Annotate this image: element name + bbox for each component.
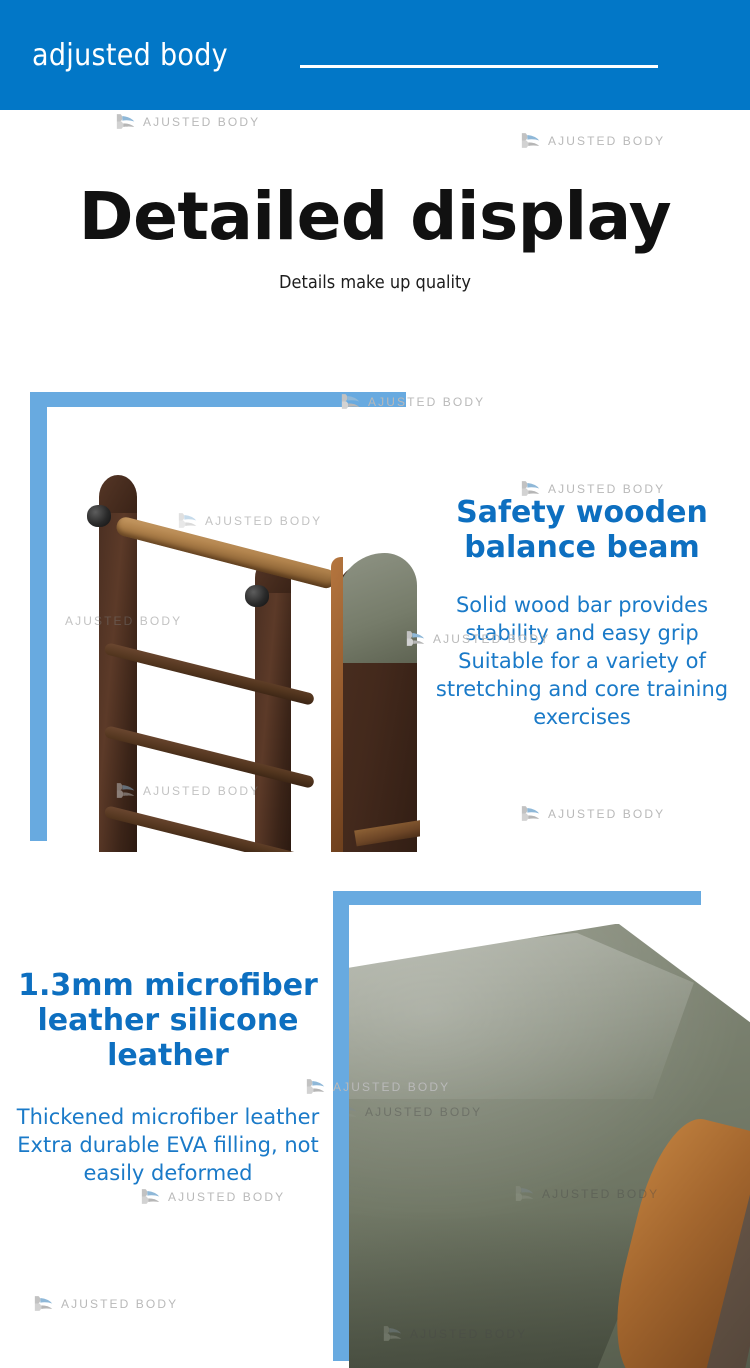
section-1-body: Solid wood bar provides stability and ea…: [428, 591, 736, 731]
balance-beam-photo: AJUSTED BODY AJUSTED BODY AJUSTED BODY: [65, 407, 420, 852]
ajusted-body-logo-mark: [140, 1188, 162, 1205]
watermark: AJUSTED BODY: [140, 1188, 285, 1205]
watermark-text: AJUSTED BODY: [168, 1190, 285, 1204]
watermark: AJUSTED BODY: [520, 132, 665, 149]
page-subtitle: Details make up quality: [0, 272, 750, 293]
watermark-text: AJUSTED BODY: [548, 134, 665, 148]
watermark-text: AJUSTED BODY: [548, 482, 665, 496]
ajusted-body-logo-mark: [520, 805, 542, 822]
product-detail-page: adjusted body Detailed display Details m…: [0, 0, 750, 1368]
leather-cushion-artwork: [349, 905, 750, 1368]
watermark-text: AJUSTED BODY: [548, 807, 665, 821]
frame-left-bar: [30, 392, 47, 841]
header-divider-line: [300, 65, 658, 68]
balance-beam-artwork: [65, 407, 420, 852]
ajusted-body-logo-mark: [33, 1295, 55, 1312]
section-1-heading: Safety wooden balance beam: [428, 495, 736, 565]
page-header: adjusted body: [0, 0, 750, 110]
watermark: AJUSTED BODY: [115, 113, 260, 130]
ajusted-body-logo-mark: [115, 113, 137, 130]
watermark-text: AJUSTED BODY: [143, 115, 260, 129]
watermark: AJUSTED BODY: [520, 805, 665, 822]
frame-left-bar: [333, 891, 349, 1361]
watermark: AJUSTED BODY: [33, 1295, 178, 1312]
section-2-heading: 1.3mm microfiber leather silicone leathe…: [8, 968, 328, 1073]
frame-top-bar: [333, 891, 701, 905]
section-1-text-block: Safety wooden balance beam Solid wood ba…: [428, 495, 736, 731]
section-2-body: Thickened microfiber leather Extra durab…: [8, 1103, 328, 1187]
ajusted-body-logo-mark: [520, 132, 542, 149]
page-title: Detailed display: [0, 178, 750, 256]
microfiber-leather-photo: AJUSTED BODY AJUSTED BODY AJUSTED BODY: [349, 905, 750, 1368]
frame-top-bar: [30, 392, 406, 407]
brand-title: adjusted body: [32, 38, 228, 73]
section-2-text-block: 1.3mm microfiber leather silicone leathe…: [8, 968, 328, 1187]
watermark-text: AJUSTED BODY: [61, 1297, 178, 1311]
